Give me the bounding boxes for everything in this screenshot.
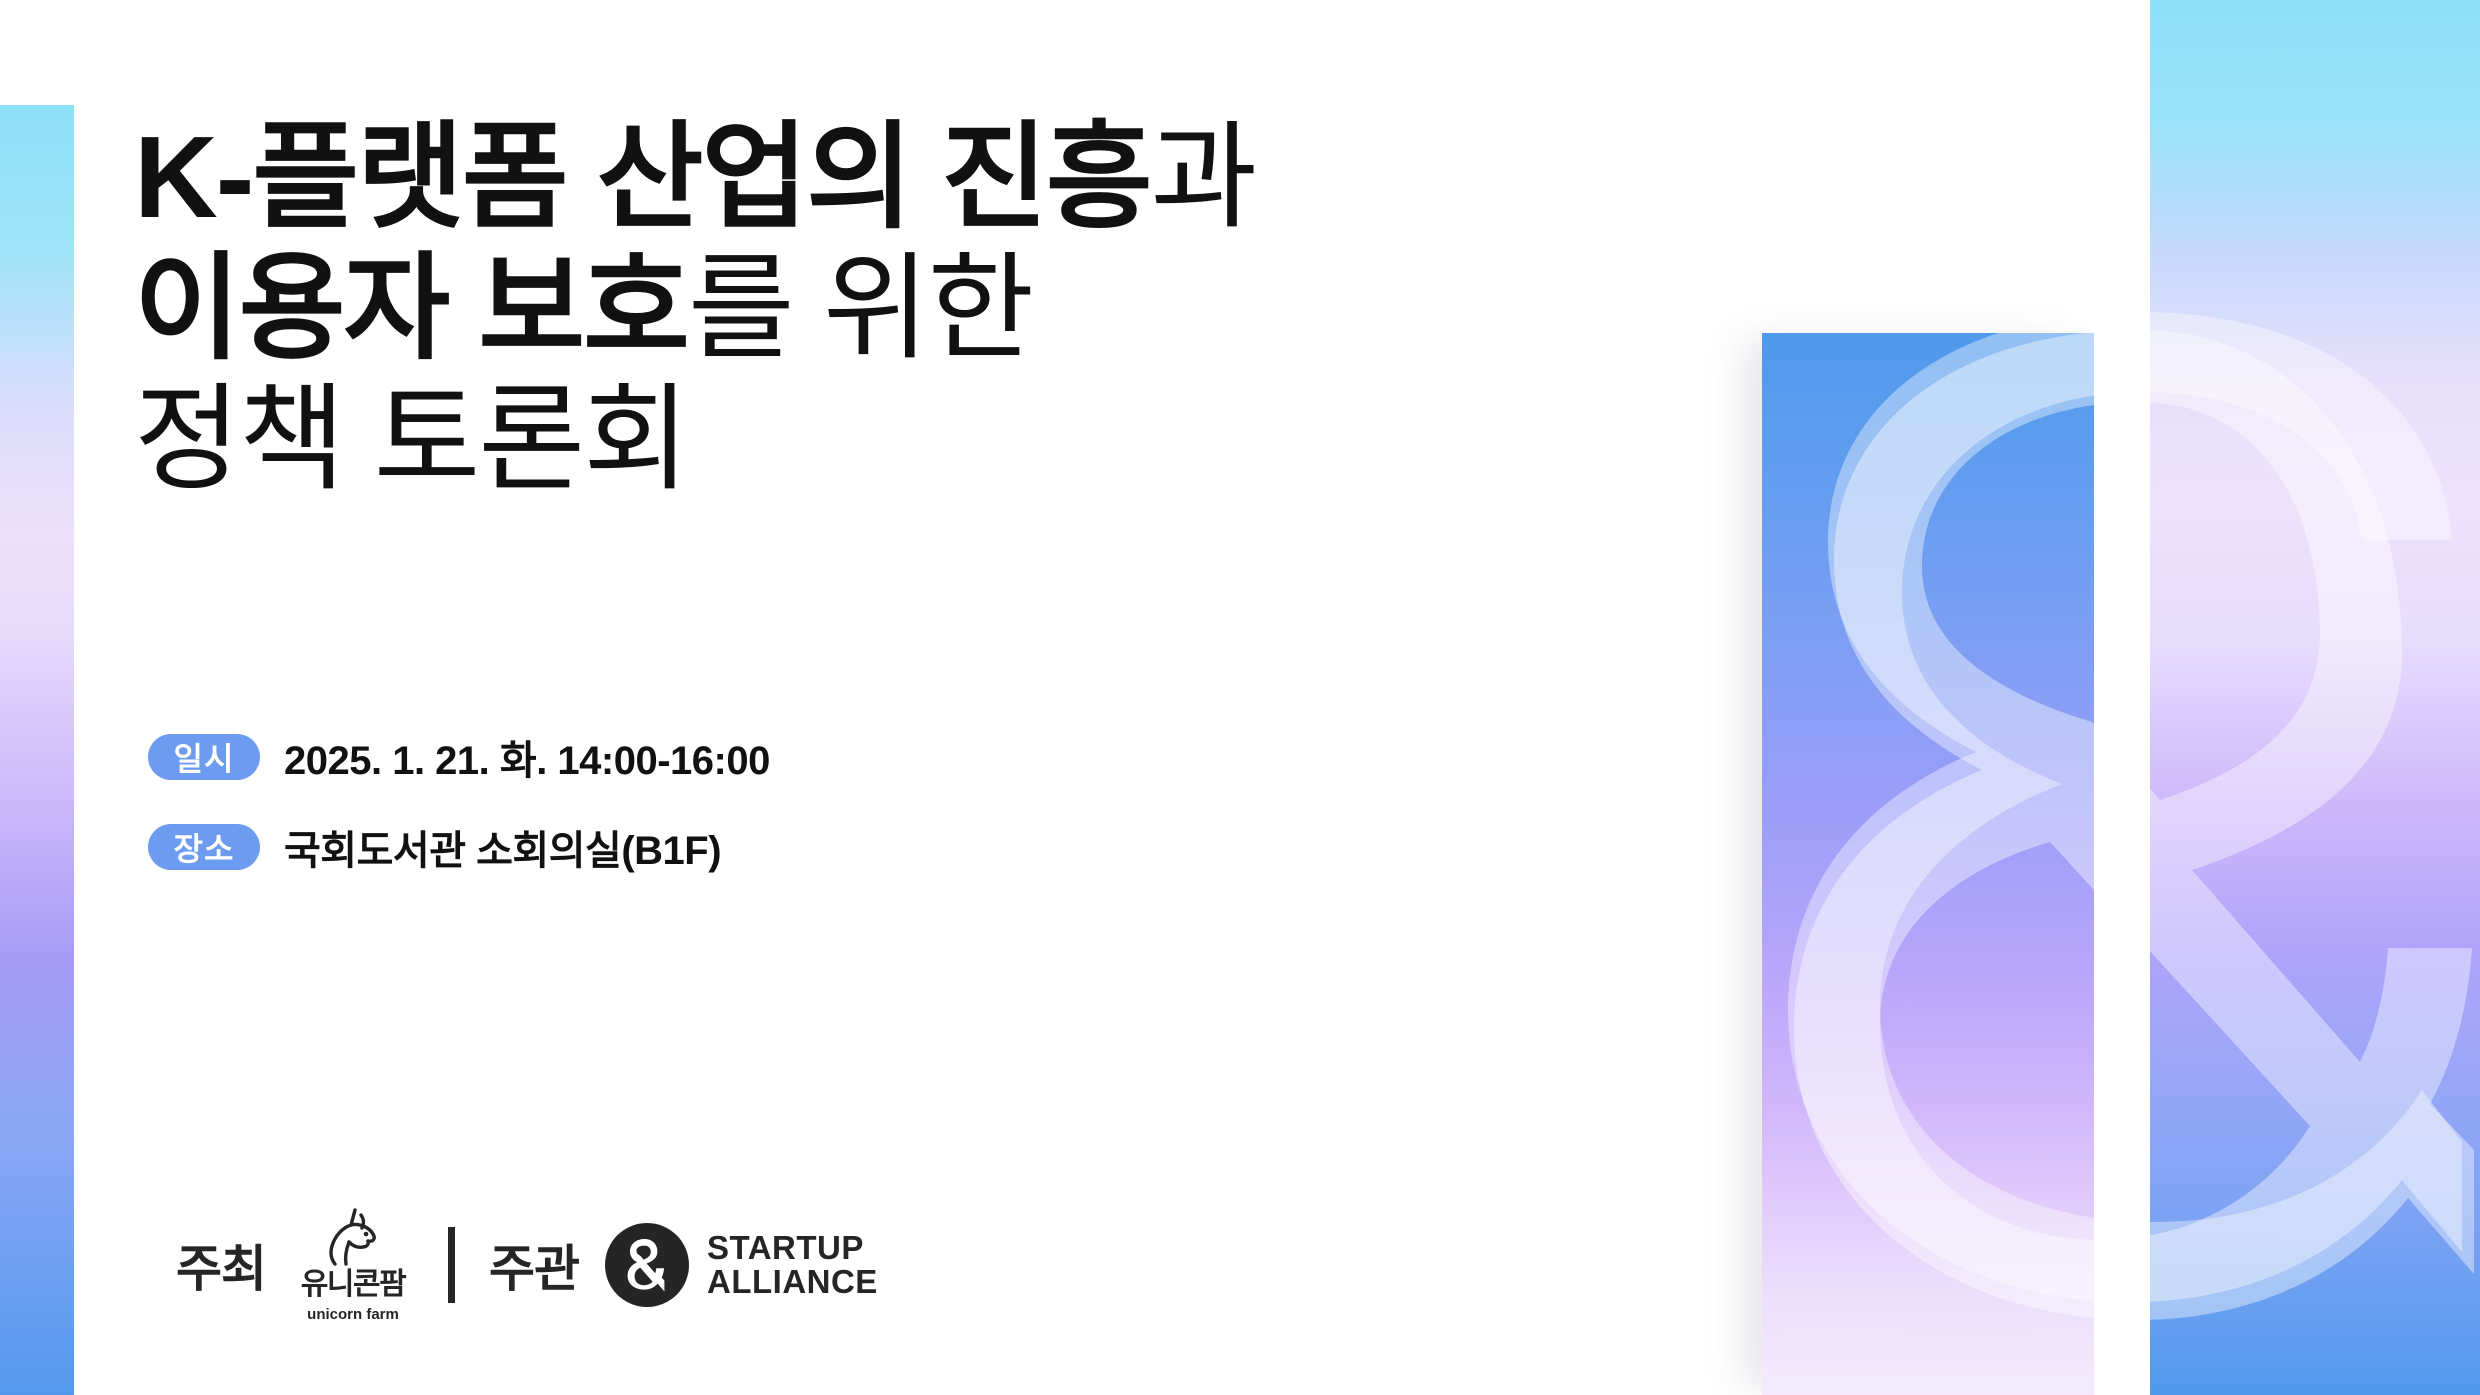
title-line-2-strong: 이용자 보호 bbox=[134, 243, 688, 373]
organizer-group: 주관 STARTUP ALLIANCE bbox=[489, 1223, 878, 1307]
startup-alliance-line1: STARTUP bbox=[707, 1231, 878, 1265]
panel-gap-divider bbox=[2094, 0, 2150, 1395]
unicorn-farm-korean: 유니콘팜 bbox=[301, 1269, 405, 1301]
event-details: 일시 2025. 1. 21. 화. 14:00-16:00 장소 국회도서관 … bbox=[148, 728, 770, 908]
title-line-1-strong: K-플랫폼 산업의 진흥 bbox=[134, 112, 1151, 242]
page-title: K-플랫폼 산업의 진흥과 이용자 보호를 위한 정책 토론회 bbox=[134, 118, 1654, 511]
date-value: 2025. 1. 21. 화. 14:00-16:00 bbox=[284, 728, 770, 786]
middle-gradient-panel bbox=[1762, 333, 2094, 1395]
left-gradient-strip bbox=[0, 105, 74, 1395]
ampersand-circle-icon bbox=[605, 1223, 689, 1307]
host-label: 주최 bbox=[176, 1229, 266, 1301]
unicorn-farm-english: unicorn farm bbox=[307, 1306, 399, 1323]
title-line-1-light: 과 bbox=[1151, 112, 1256, 242]
title-line-2: 이용자 보호를 위한 bbox=[134, 249, 1654, 367]
unicorn-icon bbox=[311, 1206, 395, 1268]
startup-alliance-logo: STARTUP ALLIANCE bbox=[605, 1223, 878, 1307]
right-gradient-panel bbox=[2150, 0, 2480, 1395]
date-badge: 일시 bbox=[148, 734, 260, 780]
footer-logos: 주최 bbox=[176, 1206, 878, 1323]
title-line-3: 정책 토론회 bbox=[134, 380, 1654, 498]
host-group: 주최 bbox=[176, 1206, 414, 1323]
startup-alliance-wordmark: STARTUP ALLIANCE bbox=[707, 1231, 878, 1299]
title-line-1: K-플랫폼 산업의 진흥과 bbox=[134, 118, 1654, 236]
poster-canvas: K-플랫폼 산업의 진흥과 이용자 보호를 위한 정책 토론회 일시 2025.… bbox=[0, 0, 2480, 1395]
footer-divider bbox=[448, 1227, 455, 1303]
event-detail-row-venue: 장소 국회도서관 소회의실(B1F) bbox=[148, 818, 770, 876]
venue-value: 국회도서관 소회의실(B1F) bbox=[284, 818, 721, 876]
venue-badge: 장소 bbox=[148, 824, 260, 870]
startup-alliance-line2: ALLIANCE bbox=[707, 1265, 878, 1299]
title-line-3-light: 정책 토론회 bbox=[134, 374, 688, 504]
organizer-label: 주관 bbox=[489, 1229, 579, 1301]
unicorn-farm-logo: 유니콘팜 unicorn farm bbox=[292, 1206, 414, 1323]
title-line-2-light: 를 위한 bbox=[688, 243, 1032, 373]
event-detail-row-date: 일시 2025. 1. 21. 화. 14:00-16:00 bbox=[148, 728, 770, 786]
